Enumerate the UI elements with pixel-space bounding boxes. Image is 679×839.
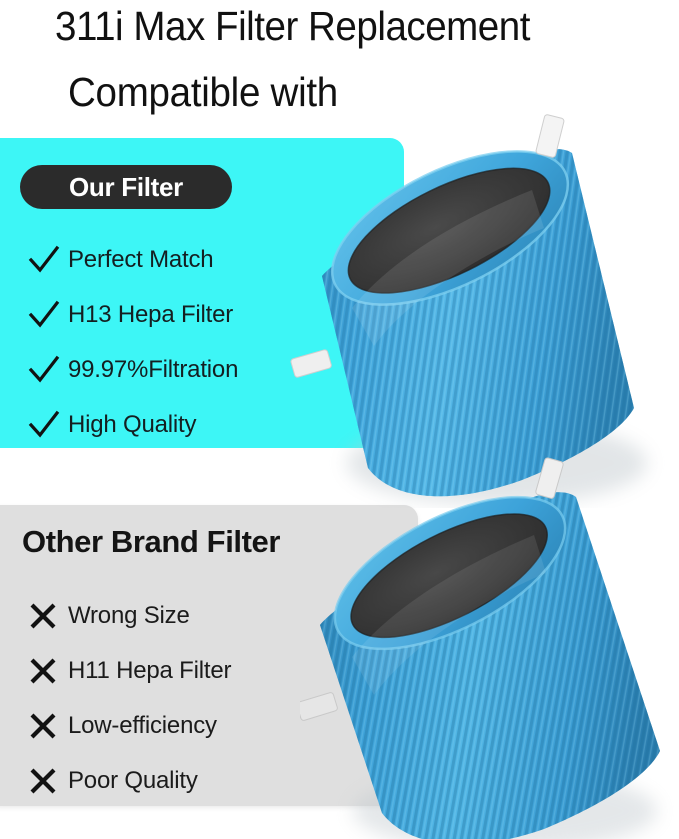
check-icon xyxy=(28,300,68,330)
list-item: H13 Hepa Filter xyxy=(28,287,238,342)
list-item: Wrong Size xyxy=(28,588,231,643)
cross-icon xyxy=(28,656,68,686)
check-icon xyxy=(28,245,68,275)
list-item: Perfect Match xyxy=(28,232,238,287)
cross-icon xyxy=(28,711,68,741)
list-item-label: 99.97%Filtration xyxy=(68,356,238,384)
list-item: H11 Hepa Filter xyxy=(28,643,231,698)
list-item: Low-efficiency xyxy=(28,698,231,753)
hepa-filter-cylinder-bottom xyxy=(300,455,679,839)
other-brand-heading: Other Brand Filter xyxy=(22,524,280,560)
title-line-secondary: Compatible with xyxy=(68,66,338,118)
list-item: High Quality xyxy=(28,397,238,452)
our-filter-feature-list: Perfect Match H13 Hepa Filter 99.97%Filt… xyxy=(28,232,238,452)
cross-icon xyxy=(28,766,68,796)
list-item-label: High Quality xyxy=(68,411,196,439)
cross-icon xyxy=(28,601,68,631)
product-comparison-infographic: 311i Max Filter Replacement Compatible w… xyxy=(0,0,679,839)
list-item: Poor Quality xyxy=(28,753,231,808)
list-item: 99.97%Filtration xyxy=(28,342,238,397)
check-icon xyxy=(28,355,68,385)
list-item-label: Wrong Size xyxy=(68,602,190,630)
check-icon xyxy=(28,410,68,440)
title-line-primary: 311i Max Filter Replacement xyxy=(55,0,530,52)
list-item-label: Poor Quality xyxy=(68,767,198,795)
list-item-label: H11 Hepa Filter xyxy=(68,657,231,685)
list-item-label: H13 Hepa Filter xyxy=(68,301,233,329)
our-filter-badge-label: Our Filter xyxy=(69,172,183,203)
hepa-filter-cylinder-top xyxy=(282,108,679,508)
list-item-label: Low-efficiency xyxy=(68,712,217,740)
list-item-label: Perfect Match xyxy=(68,246,213,274)
our-filter-badge: Our Filter xyxy=(20,165,232,209)
other-brand-feature-list: Wrong Size H11 Hepa Filter Low-efficienc… xyxy=(28,588,231,808)
